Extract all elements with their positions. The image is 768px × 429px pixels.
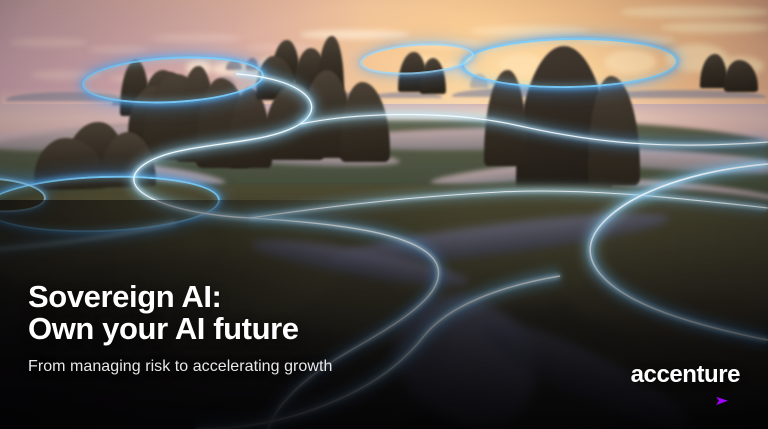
headline-line-2: Own your AI future (28, 313, 498, 345)
accenture-chevron-icon (715, 396, 730, 407)
cloud (88, 46, 148, 53)
cloud (660, 22, 768, 33)
hero-banner: Sovereign AI: Own your AI future From ma… (0, 0, 768, 429)
accenture-wordmark: accenture (631, 363, 740, 387)
cloud (470, 26, 590, 36)
cloud (10, 38, 88, 47)
cloud (620, 6, 768, 18)
page-title: Sovereign AI: Own your AI future (28, 281, 498, 345)
cloud (300, 30, 410, 39)
accenture-logo[interactable]: accenture (631, 363, 740, 387)
hero-subtitle: From managing risk to accelerating growt… (28, 357, 498, 377)
cloud (150, 34, 242, 42)
hero-copy: Sovereign AI: Own your AI future From ma… (28, 281, 498, 377)
headline-line-1: Sovereign AI: (28, 279, 221, 314)
